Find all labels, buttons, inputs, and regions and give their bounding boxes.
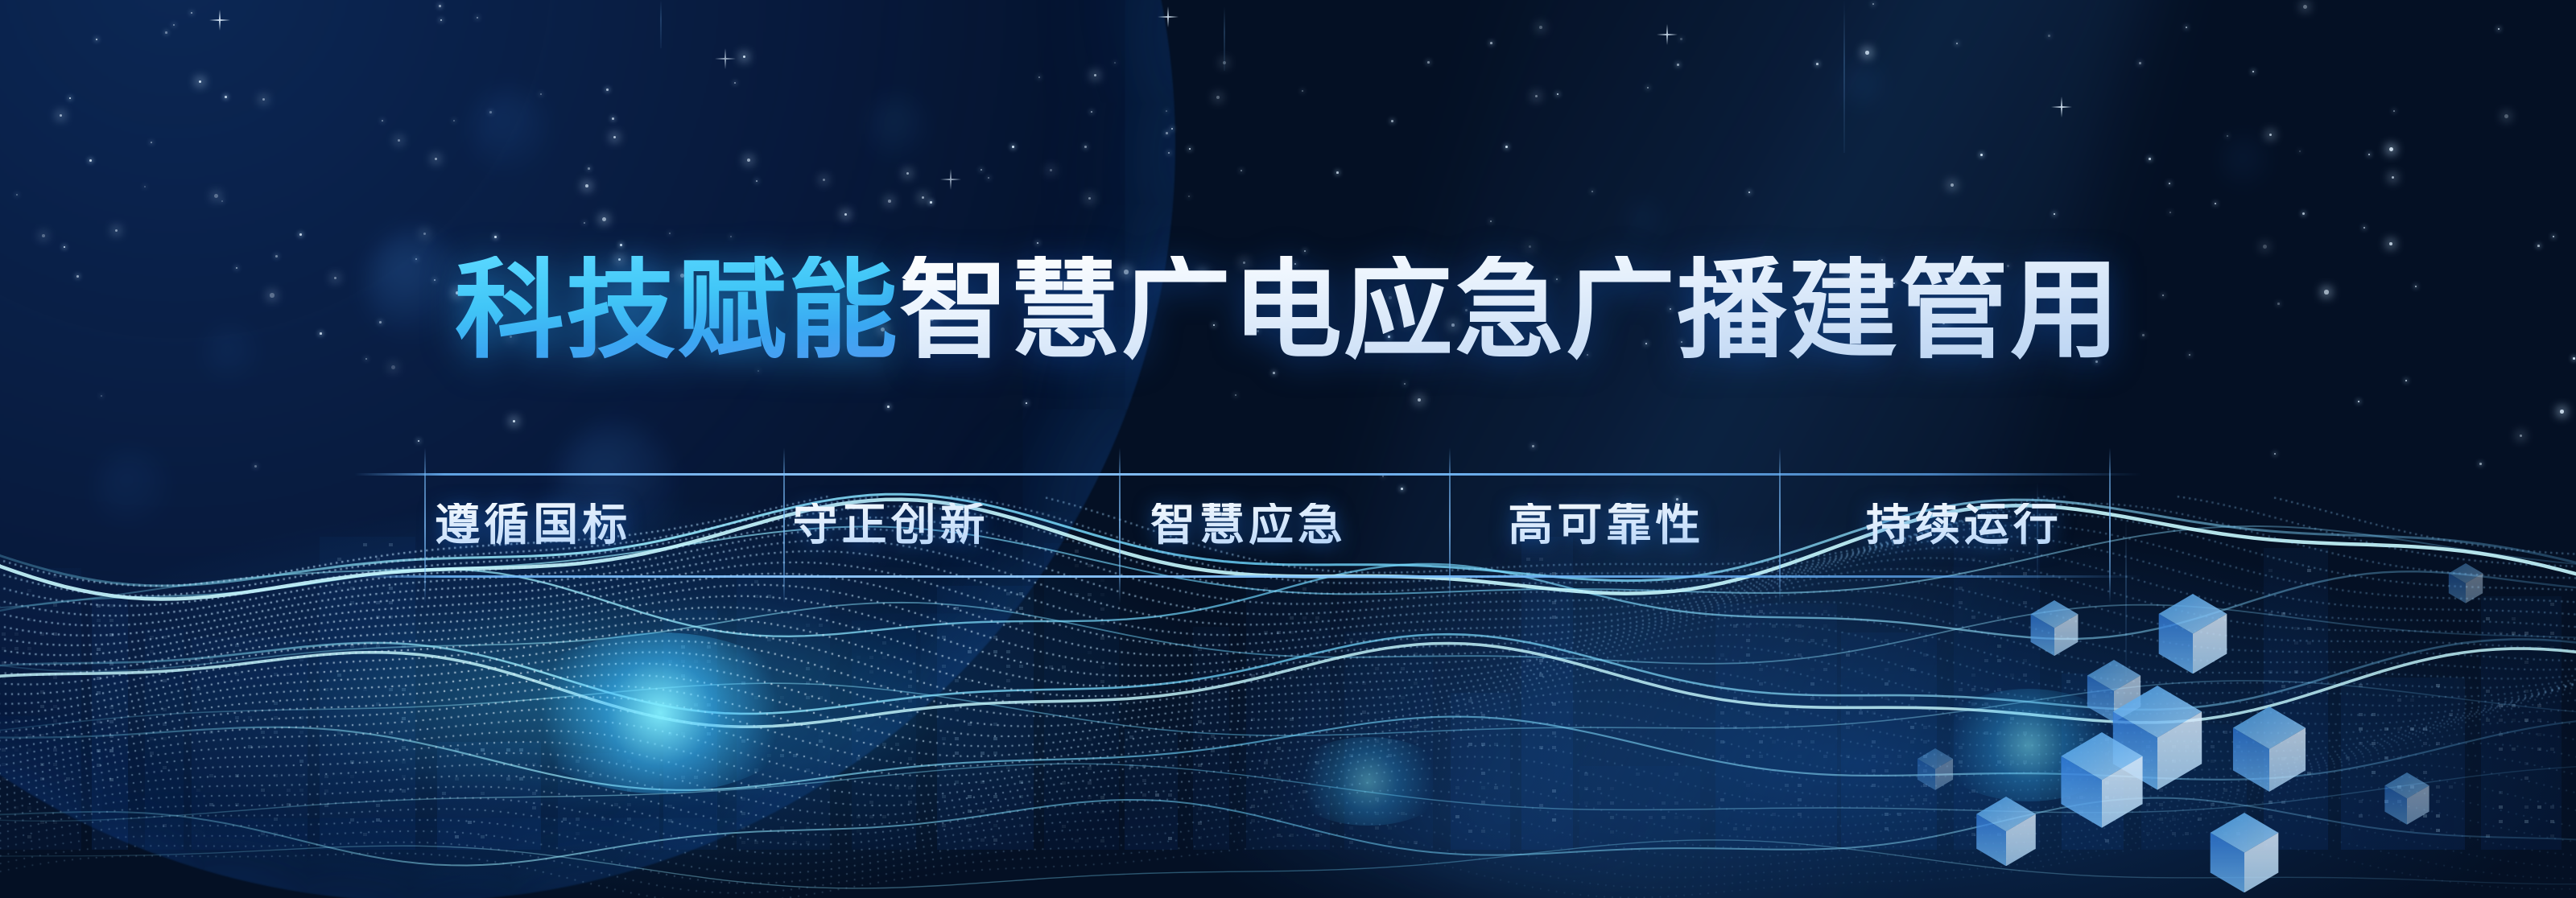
keyword-item-0: 遵循国标	[354, 503, 712, 548]
banner-root: 科技赋能智慧广电应急广播建管用 遵循国标 守正创新 智慧应急 高可靠性 持续运行	[0, 0, 2576, 898]
keyword-bar: 遵循国标 守正创新 智慧应急 高可靠性 持续运行	[354, 473, 2143, 578]
keyword-item-4: 持续运行	[1785, 503, 2143, 548]
keyword-item-3: 高可靠性	[1427, 503, 1785, 548]
keyword-item-1: 守正创新	[712, 503, 1069, 548]
title-accent-text: 科技赋能	[455, 256, 899, 365]
title-main-text: 智慧广电应急广播建管用	[899, 256, 2121, 365]
banner-title: 科技赋能智慧广电应急广播建管用	[0, 256, 2576, 365]
keyword-item-2: 智慧应急	[1070, 503, 1427, 548]
banner-content: 科技赋能智慧广电应急广播建管用 遵循国标 守正创新 智慧应急 高可靠性 持续运行	[0, 0, 2576, 898]
keyword-list: 遵循国标 守正创新 智慧应急 高可靠性 持续运行	[354, 473, 2143, 578]
